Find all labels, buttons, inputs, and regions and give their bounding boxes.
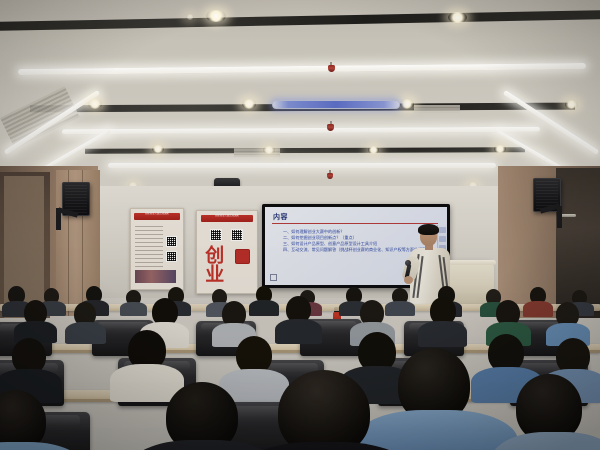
ceiling-vent-grille [414, 105, 460, 113]
presenter-hair [418, 224, 439, 235]
led-cove-strip [108, 163, 496, 168]
fire-sprinkler [327, 173, 333, 179]
person-shoulders [120, 302, 147, 316]
audience-area [0, 286, 600, 450]
ceiling-downlight [152, 145, 164, 153]
poster-left: 创新创业大赛活动通知 [130, 208, 184, 290]
qr-code-icon [166, 236, 177, 247]
uv-tube-light [272, 100, 400, 109]
ceiling-downlight [368, 146, 379, 154]
poster-big-characters: 创业 [204, 245, 221, 283]
led-cove-strip [18, 63, 586, 75]
poster-right: 创新创业大赛活动通知 创业 [196, 210, 258, 294]
slide-divider [272, 223, 438, 224]
speaker-mount-bracket [56, 208, 61, 230]
person-shoulders [385, 301, 415, 316]
ceiling-downlight [88, 99, 102, 109]
presenter-hand [404, 276, 413, 284]
qr-code-icon [210, 229, 222, 241]
person-shoulders [65, 322, 106, 344]
ceiling [0, 0, 600, 190]
ceiling-downlight [448, 12, 467, 23]
person-shoulders [249, 300, 279, 316]
ceiling-downlight [565, 100, 578, 109]
fire-sprinkler [327, 124, 334, 131]
ceiling-downlight [400, 99, 414, 109]
poster-body-text [135, 225, 163, 271]
ceiling-service-channel [0, 10, 600, 31]
qr-code-icon [166, 251, 177, 262]
ceiling-downlight [494, 145, 506, 153]
person-shoulders [523, 301, 553, 317]
door-handle-icon[interactable] [560, 214, 576, 217]
speaker-grille [65, 185, 87, 213]
ceiling-downlight [263, 146, 275, 154]
qr-code-icon [231, 229, 243, 241]
slide-page-button[interactable] [270, 274, 277, 281]
fire-sprinkler [328, 65, 335, 72]
poster-header-text: 创新创业大赛活动通知 [134, 213, 180, 220]
lecture-hall-photo: 创新创业大赛活动通知 创新创业大赛活动通知 创业 内容 一、如何理解创业大赛中的… [0, 0, 600, 450]
led-cove-strip [62, 127, 540, 135]
ceiling-vent-grille [0, 86, 80, 148]
slide-title: 内容 [273, 212, 288, 222]
poster-header-banner: 创新创业大赛活动通知 [134, 213, 180, 220]
poster-header-text: 创新创业大赛活动通知 [201, 215, 254, 222]
ceiling-downlight [186, 14, 194, 20]
speaker-mount-bracket [557, 206, 562, 228]
poster-header-banner: 创新创业大赛活动通知 [201, 215, 254, 222]
poster-photo [135, 270, 176, 283]
microphone-head-icon [405, 260, 411, 266]
person-head [278, 370, 370, 450]
ceiling-downlight [206, 10, 226, 22]
person-shoulders [418, 321, 467, 347]
poster-seal-stamp [235, 249, 250, 264]
ceiling-downlight [242, 99, 256, 109]
ceiling-service-channel [85, 147, 525, 154]
person-shoulders [354, 410, 518, 450]
person-shoulders [275, 319, 322, 344]
